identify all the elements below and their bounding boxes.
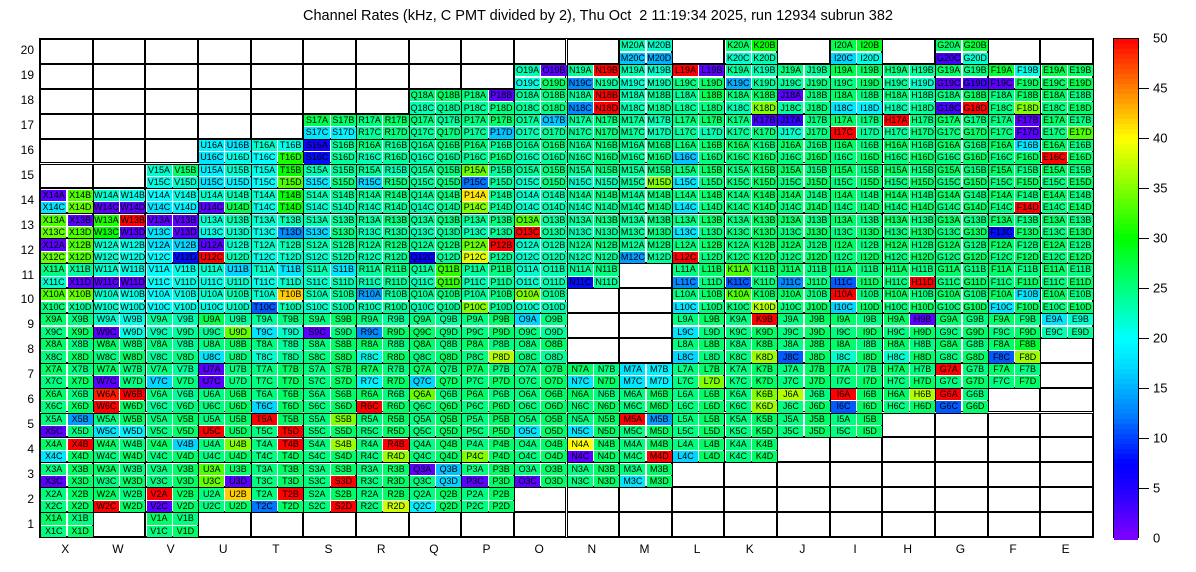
heatmap-channel-cell[interactable]: N13B [594, 215, 619, 226]
heatmap-channel-cell[interactable]: I6A [831, 389, 856, 400]
heatmap-channel-cell[interactable]: K11C [726, 277, 751, 288]
heatmap-channel-cell[interactable]: K4D [752, 451, 777, 462]
heatmap-channel-cell[interactable]: L19D [699, 78, 724, 89]
heatmap-channel-cell[interactable]: R6D [383, 401, 408, 412]
heatmap-channel-cell[interactable]: I18A [831, 90, 856, 101]
heatmap-channel-cell[interactable]: Q18B [436, 90, 461, 101]
heatmap-channel-cell[interactable]: J7D [805, 376, 830, 387]
heatmap-tower[interactable] [198, 114, 251, 139]
heatmap-channel-cell[interactable]: R2D [383, 501, 408, 512]
heatmap-channel-cell[interactable]: J11B [805, 264, 830, 275]
heatmap-channel-cell[interactable]: N7B [594, 364, 619, 375]
heatmap-channel-cell[interactable]: L19A [673, 65, 698, 76]
heatmap-channel-cell[interactable]: H12B [910, 239, 935, 250]
heatmap-channel-cell[interactable]: H8A [884, 339, 909, 350]
heatmap-channel-cell[interactable]: J9C [778, 327, 803, 338]
heatmap-channel-cell[interactable]: M19B [647, 65, 672, 76]
heatmap-channel-cell[interactable]: M4C [620, 451, 645, 462]
heatmap-channel-cell[interactable]: L9A [673, 314, 698, 325]
heatmap-channel-cell[interactable]: T3D [278, 476, 303, 487]
heatmap-channel-cell[interactable]: G8B [963, 339, 988, 350]
heatmap-channel-cell[interactable]: H13A [884, 215, 909, 226]
heatmap-channel-cell[interactable]: W7D [120, 376, 145, 387]
heatmap-channel-cell[interactable]: R14A [357, 190, 382, 201]
heatmap-channel-cell[interactable]: L15D [699, 177, 724, 188]
heatmap-channel-cell[interactable]: W9C [94, 327, 119, 338]
heatmap-channel-cell[interactable]: J19A [778, 65, 803, 76]
heatmap-tower[interactable] [777, 512, 830, 537]
heatmap-channel-cell[interactable]: K4A [726, 439, 751, 450]
heatmap-channel-cell[interactable]: E10B [1068, 289, 1093, 300]
heatmap-channel-cell[interactable]: P16A [462, 140, 487, 151]
heatmap-channel-cell[interactable]: I13A [831, 215, 856, 226]
heatmap-channel-cell[interactable]: L15A [673, 165, 698, 176]
heatmap-channel-cell[interactable]: N13C [568, 227, 593, 238]
heatmap-channel-cell[interactable]: P4B [489, 439, 514, 450]
heatmap-channel-cell[interactable]: Q4A [410, 439, 435, 450]
heatmap-channel-cell[interactable]: S2D [331, 501, 356, 512]
heatmap-channel-cell[interactable]: N12B [594, 239, 619, 250]
heatmap-tower[interactable] [1040, 462, 1093, 487]
heatmap-channel-cell[interactable]: M18C [620, 102, 645, 113]
heatmap-channel-cell[interactable]: X7C [41, 376, 66, 387]
heatmap-channel-cell[interactable]: I20B [857, 40, 882, 51]
heatmap-channel-cell[interactable]: Q15C [410, 177, 435, 188]
heatmap-channel-cell[interactable]: G7D [963, 376, 988, 387]
heatmap-channel-cell[interactable]: Q10A [410, 289, 435, 300]
heatmap-channel-cell[interactable]: V9B [173, 314, 198, 325]
heatmap-channel-cell[interactable]: K12B [752, 239, 777, 250]
heatmap-channel-cell[interactable]: T8D [278, 351, 303, 362]
heatmap-tower[interactable] [93, 89, 146, 114]
heatmap-channel-cell[interactable]: N19B [594, 65, 619, 76]
heatmap-channel-cell[interactable]: O19A [515, 65, 540, 76]
heatmap-channel-cell[interactable]: L16B [699, 140, 724, 151]
heatmap-channel-cell[interactable]: R9C [357, 327, 382, 338]
heatmap-channel-cell[interactable]: Q7D [436, 376, 461, 387]
heatmap-channel-cell[interactable]: M16B [647, 140, 672, 151]
heatmap-channel-cell[interactable]: R5B [383, 414, 408, 425]
heatmap-channel-cell[interactable]: T6A [252, 389, 277, 400]
heatmap-channel-cell[interactable]: O5D [541, 426, 566, 437]
heatmap-channel-cell[interactable]: X11D [68, 277, 93, 288]
heatmap-channel-cell[interactable]: S11B [331, 264, 356, 275]
heatmap-channel-cell[interactable]: N14B [594, 190, 619, 201]
heatmap-channel-cell[interactable]: N14C [568, 202, 593, 213]
heatmap-channel-cell[interactable]: N19C [568, 78, 593, 89]
heatmap-channel-cell[interactable]: V9C [147, 327, 172, 338]
heatmap-channel-cell[interactable]: T16B [278, 140, 303, 151]
heatmap-channel-cell[interactable]: W13A [94, 215, 119, 226]
heatmap-channel-cell[interactable]: X12B [68, 239, 93, 250]
heatmap-channel-cell[interactable]: X4D [68, 451, 93, 462]
heatmap-channel-cell[interactable]: R6B [383, 389, 408, 400]
heatmap-channel-cell[interactable]: K7A [726, 364, 751, 375]
heatmap-channel-cell[interactable]: V5D [173, 426, 198, 437]
heatmap-channel-cell[interactable]: R15A [357, 165, 382, 176]
heatmap-tower[interactable] [40, 39, 93, 64]
heatmap-channel-cell[interactable]: E12D [1068, 252, 1093, 263]
heatmap-channel-cell[interactable]: J15C [778, 177, 803, 188]
heatmap-channel-cell[interactable]: L5D [699, 426, 724, 437]
heatmap-tower[interactable] [198, 39, 251, 64]
heatmap-channel-cell[interactable]: R4A [357, 439, 382, 450]
heatmap-channel-cell[interactable]: G16D [963, 152, 988, 163]
heatmap-channel-cell[interactable]: P10D [489, 302, 514, 313]
heatmap-tower[interactable] [619, 288, 672, 313]
heatmap-channel-cell[interactable]: S11C [304, 277, 329, 288]
heatmap-channel-cell[interactable]: J8C [778, 351, 803, 362]
heatmap-channel-cell[interactable]: F10C [989, 302, 1014, 313]
heatmap-channel-cell[interactable]: U9C [199, 327, 224, 338]
heatmap-channel-cell[interactable]: S8A [304, 339, 329, 350]
heatmap-channel-cell[interactable]: K12D [752, 252, 777, 263]
heatmap-tower[interactable] [567, 288, 620, 313]
heatmap-channel-cell[interactable]: V1A [147, 513, 172, 524]
heatmap-tower[interactable] [777, 487, 830, 512]
heatmap-channel-cell[interactable]: X2A [41, 488, 66, 499]
heatmap-channel-cell[interactable]: L11B [699, 264, 724, 275]
heatmap-channel-cell[interactable]: H8D [910, 351, 935, 362]
heatmap-tower[interactable] [1040, 39, 1093, 64]
heatmap-channel-cell[interactable]: G15A [936, 165, 961, 176]
heatmap-tower[interactable] [882, 487, 935, 512]
heatmap-channel-cell[interactable]: U13C [199, 227, 224, 238]
heatmap-tower[interactable] [619, 487, 672, 512]
heatmap-channel-cell[interactable]: E11D [1068, 277, 1093, 288]
heatmap-channel-cell[interactable]: Q18C [410, 102, 435, 113]
heatmap-tower[interactable] [672, 462, 725, 487]
heatmap-channel-cell[interactable]: M14C [620, 202, 645, 213]
heatmap-channel-cell[interactable]: V11B [173, 264, 198, 275]
heatmap-channel-cell[interactable]: X3C [41, 476, 66, 487]
heatmap-channel-cell[interactable]: O19C [515, 78, 540, 89]
heatmap-channel-cell[interactable]: H14D [910, 202, 935, 213]
heatmap-channel-cell[interactable]: S3D [331, 476, 356, 487]
heatmap-channel-cell[interactable]: M4A [620, 439, 645, 450]
heatmap-channel-cell[interactable]: H7A [884, 364, 909, 375]
heatmap-channel-cell[interactable]: O13B [541, 215, 566, 226]
heatmap-channel-cell[interactable]: N15D [594, 177, 619, 188]
heatmap-channel-cell[interactable]: O12D [541, 252, 566, 263]
heatmap-channel-cell[interactable]: O19B [541, 65, 566, 76]
heatmap-channel-cell[interactable]: G20A [936, 40, 961, 51]
heatmap-channel-cell[interactable]: I9B [857, 314, 882, 325]
heatmap-channel-cell[interactable]: N5D [594, 426, 619, 437]
heatmap-channel-cell[interactable]: N7C [568, 376, 593, 387]
heatmap-channel-cell[interactable]: V4B [173, 439, 198, 450]
heatmap-channel-cell[interactable]: F7C [989, 376, 1014, 387]
heatmap-channel-cell[interactable]: L17B [699, 115, 724, 126]
heatmap-channel-cell[interactable]: J6D [805, 401, 830, 412]
heatmap-channel-cell[interactable]: L12B [699, 239, 724, 250]
heatmap-channel-cell[interactable]: U12C [199, 252, 224, 263]
heatmap-channel-cell[interactable]: K20B [752, 40, 777, 51]
heatmap-channel-cell[interactable]: N13D [594, 227, 619, 238]
heatmap-channel-cell[interactable]: G15C [936, 177, 961, 188]
heatmap-channel-cell[interactable]: R13C [357, 227, 382, 238]
heatmap-channel-cell[interactable]: L8B [699, 339, 724, 350]
heatmap-channel-cell[interactable]: F15D [1015, 177, 1040, 188]
heatmap-channel-cell[interactable]: V6B [173, 389, 198, 400]
heatmap-channel-cell[interactable]: G14B [963, 190, 988, 201]
heatmap-channel-cell[interactable]: F14D [1015, 202, 1040, 213]
heatmap-tower[interactable] [567, 313, 620, 338]
heatmap-channel-cell[interactable]: I16B [857, 140, 882, 151]
heatmap-channel-cell[interactable]: U8A [199, 339, 224, 350]
heatmap-tower[interactable] [935, 512, 988, 537]
heatmap-tower[interactable] [40, 139, 93, 164]
heatmap-channel-cell[interactable]: R17D [383, 127, 408, 138]
heatmap-channel-cell[interactable]: Q13D [436, 227, 461, 238]
heatmap-channel-cell[interactable]: O7C [515, 376, 540, 387]
heatmap-channel-cell[interactable]: F7A [989, 364, 1014, 375]
heatmap-channel-cell[interactable]: F17B [1015, 115, 1040, 126]
heatmap-channel-cell[interactable]: N15B [594, 165, 619, 176]
heatmap-channel-cell[interactable]: J6B [805, 389, 830, 400]
heatmap-channel-cell[interactable]: N19A [568, 65, 593, 76]
heatmap-channel-cell[interactable]: L9D [699, 327, 724, 338]
heatmap-channel-cell[interactable]: L17C [673, 127, 698, 138]
heatmap-channel-cell[interactable]: O10B [541, 289, 566, 300]
heatmap-channel-cell[interactable]: V11D [173, 277, 198, 288]
heatmap-tower[interactable] [1040, 437, 1093, 462]
heatmap-channel-cell[interactable]: Q2A [410, 488, 435, 499]
heatmap-channel-cell[interactable]: S16A [304, 140, 329, 151]
heatmap-channel-cell[interactable]: T7A [252, 364, 277, 375]
heatmap-tower[interactable] [830, 437, 883, 462]
heatmap-channel-cell[interactable]: H14B [910, 190, 935, 201]
heatmap-channel-cell[interactable]: U11C [199, 277, 224, 288]
heatmap-channel-cell[interactable]: O16A [515, 140, 540, 151]
heatmap-channel-cell[interactable]: I18C [831, 102, 856, 113]
heatmap-channel-cell[interactable]: O4A [515, 439, 540, 450]
heatmap-channel-cell[interactable]: L9B [699, 314, 724, 325]
heatmap-tower[interactable] [198, 512, 251, 537]
heatmap-channel-cell[interactable]: R17C [357, 127, 382, 138]
heatmap-channel-cell[interactable]: O17C [515, 127, 540, 138]
heatmap-channel-cell[interactable]: P10C [462, 302, 487, 313]
heatmap-channel-cell[interactable]: X8B [68, 339, 93, 350]
heatmap-channel-cell[interactable]: N16C [568, 152, 593, 163]
heatmap-channel-cell[interactable]: E9A [1042, 314, 1067, 325]
heatmap-channel-cell[interactable]: X10A [41, 289, 66, 300]
heatmap-channel-cell[interactable]: Q14A [410, 190, 435, 201]
heatmap-channel-cell[interactable]: T5B [278, 414, 303, 425]
heatmap-channel-cell[interactable]: K14A [726, 190, 751, 201]
heatmap-channel-cell[interactable]: G11B [963, 264, 988, 275]
heatmap-channel-cell[interactable]: K17C [726, 127, 751, 138]
heatmap-channel-cell[interactable]: G14A [936, 190, 961, 201]
heatmap-channel-cell[interactable]: V5A [147, 414, 172, 425]
heatmap-channel-cell[interactable]: K11A [726, 264, 751, 275]
heatmap-channel-cell[interactable]: I12D [857, 252, 882, 263]
heatmap-channel-cell[interactable]: R10A [357, 289, 382, 300]
heatmap-channel-cell[interactable]: N11C [568, 277, 593, 288]
heatmap-channel-cell[interactable]: K7D [752, 376, 777, 387]
heatmap-channel-cell[interactable]: I11C [831, 277, 856, 288]
heatmap-channel-cell[interactable]: U4B [225, 439, 250, 450]
heatmap-channel-cell[interactable]: P4C [462, 451, 487, 462]
heatmap-channel-cell[interactable]: E16C [1042, 152, 1067, 163]
heatmap-channel-cell[interactable]: M15D [647, 177, 672, 188]
heatmap-tower[interactable] [882, 462, 935, 487]
heatmap-channel-cell[interactable]: M12D [647, 252, 672, 263]
heatmap-channel-cell[interactable]: X8C [41, 351, 66, 362]
heatmap-channel-cell[interactable]: P9B [489, 314, 514, 325]
heatmap-channel-cell[interactable]: U14A [199, 190, 224, 201]
heatmap-channel-cell[interactable]: M5D [647, 426, 672, 437]
heatmap-channel-cell[interactable]: X4C [41, 451, 66, 462]
heatmap-channel-cell[interactable]: Q8A [410, 339, 435, 350]
heatmap-channel-cell[interactable]: J15D [805, 177, 830, 188]
heatmap-channel-cell[interactable]: S4D [331, 451, 356, 462]
heatmap-channel-cell[interactable]: U11B [225, 264, 250, 275]
heatmap-channel-cell[interactable]: P18C [462, 102, 487, 113]
heatmap-channel-cell[interactable]: W4B [120, 439, 145, 450]
heatmap-channel-cell[interactable]: Q17B [436, 115, 461, 126]
heatmap-channel-cell[interactable]: S15A [304, 165, 329, 176]
heatmap-channel-cell[interactable]: T13A [252, 215, 277, 226]
heatmap-channel-cell[interactable]: M19D [647, 78, 672, 89]
heatmap-channel-cell[interactable]: X12D [68, 252, 93, 263]
heatmap-channel-cell[interactable]: T12C [252, 252, 277, 263]
heatmap-channel-cell[interactable]: J14D [805, 202, 830, 213]
heatmap-channel-cell[interactable]: H16D [910, 152, 935, 163]
heatmap-channel-cell[interactable]: Q13C [410, 227, 435, 238]
heatmap-channel-cell[interactable]: J9A [778, 314, 803, 325]
heatmap-channel-cell[interactable]: O8B [541, 339, 566, 350]
heatmap-channel-cell[interactable]: S14A [304, 190, 329, 201]
heatmap-channel-cell[interactable]: J16D [805, 152, 830, 163]
heatmap-channel-cell[interactable]: R11D [383, 277, 408, 288]
heatmap-channel-cell[interactable]: X13D [68, 227, 93, 238]
heatmap-channel-cell[interactable]: X5A [41, 414, 66, 425]
heatmap-channel-cell[interactable]: S12A [304, 239, 329, 250]
heatmap-channel-cell[interactable]: K9B [752, 314, 777, 325]
heatmap-channel-cell[interactable]: J15B [805, 165, 830, 176]
heatmap-channel-cell[interactable]: O18A [515, 90, 540, 101]
heatmap-channel-cell[interactable]: O19D [541, 78, 566, 89]
heatmap-channel-cell[interactable]: K13B [752, 215, 777, 226]
heatmap-channel-cell[interactable]: V4A [147, 439, 172, 450]
heatmap-channel-cell[interactable]: I16C [831, 152, 856, 163]
heatmap-channel-cell[interactable]: M17B [647, 115, 672, 126]
heatmap-channel-cell[interactable]: O12B [541, 239, 566, 250]
heatmap-channel-cell[interactable]: P14D [489, 202, 514, 213]
heatmap-channel-cell[interactable]: T11A [252, 264, 277, 275]
heatmap-channel-cell[interactable]: E14D [1068, 202, 1093, 213]
heatmap-channel-cell[interactable]: E17A [1042, 115, 1067, 126]
heatmap-channel-cell[interactable]: U6D [225, 401, 250, 412]
heatmap-channel-cell[interactable]: J15A [778, 165, 803, 176]
heatmap-channel-cell[interactable]: E13B [1068, 215, 1093, 226]
heatmap-channel-cell[interactable]: M15B [647, 165, 672, 176]
heatmap-channel-cell[interactable]: R12B [383, 239, 408, 250]
heatmap-channel-cell[interactable]: J13C [778, 227, 803, 238]
heatmap-channel-cell[interactable]: T10B [278, 289, 303, 300]
heatmap-channel-cell[interactable]: M3D [647, 476, 672, 487]
heatmap-channel-cell[interactable]: P12A [462, 239, 487, 250]
heatmap-channel-cell[interactable]: F8B [1015, 339, 1040, 350]
heatmap-channel-cell[interactable]: V7A [147, 364, 172, 375]
heatmap-channel-cell[interactable]: F9B [1015, 314, 1040, 325]
heatmap-channel-cell[interactable]: Q11B [436, 264, 461, 275]
heatmap-channel-cell[interactable]: L6B [699, 389, 724, 400]
heatmap-channel-cell[interactable]: Q7B [436, 364, 461, 375]
heatmap-channel-cell[interactable]: T12A [252, 239, 277, 250]
heatmap-channel-cell[interactable]: U12B [225, 239, 250, 250]
heatmap-channel-cell[interactable]: G8A [936, 339, 961, 350]
heatmap-channel-cell[interactable]: Q15A [410, 165, 435, 176]
heatmap-channel-cell[interactable]: H7B [910, 364, 935, 375]
heatmap-channel-cell[interactable]: H16B [910, 140, 935, 151]
heatmap-channel-cell[interactable]: L17A [673, 115, 698, 126]
heatmap-channel-cell[interactable]: M14D [647, 202, 672, 213]
heatmap-channel-cell[interactable]: S17A [304, 115, 329, 126]
heatmap-channel-cell[interactable]: V3B [173, 464, 198, 475]
heatmap-channel-cell[interactable]: J16A [778, 140, 803, 151]
heatmap-channel-cell[interactable]: W2D [120, 501, 145, 512]
heatmap-channel-cell[interactable]: F18D [1015, 102, 1040, 113]
heatmap-channel-cell[interactable]: J8A [778, 339, 803, 350]
heatmap-channel-cell[interactable]: H18A [884, 90, 909, 101]
heatmap-channel-cell[interactable]: V8C [147, 351, 172, 362]
heatmap-channel-cell[interactable]: T15B [278, 165, 303, 176]
heatmap-channel-cell[interactable]: X6B [68, 389, 93, 400]
heatmap-channel-cell[interactable]: I18B [857, 90, 882, 101]
heatmap-channel-cell[interactable]: T15D [278, 177, 303, 188]
heatmap-tower[interactable] [93, 512, 146, 537]
heatmap-channel-cell[interactable]: G18A [936, 90, 961, 101]
heatmap-channel-cell[interactable]: W14C [94, 202, 119, 213]
heatmap-channel-cell[interactable]: Q16A [410, 140, 435, 151]
heatmap-tower[interactable] [461, 39, 514, 64]
heatmap-channel-cell[interactable]: O9C [515, 327, 540, 338]
heatmap-channel-cell[interactable]: N19D [594, 78, 619, 89]
heatmap-channel-cell[interactable]: M18A [620, 90, 645, 101]
heatmap-channel-cell[interactable]: S2A [304, 488, 329, 499]
heatmap-channel-cell[interactable]: I7A [831, 364, 856, 375]
heatmap-channel-cell[interactable]: Q13A [410, 215, 435, 226]
heatmap-channel-cell[interactable]: T9A [252, 314, 277, 325]
heatmap-channel-cell[interactable]: W4A [94, 439, 119, 450]
heatmap-channel-cell[interactable]: F12A [989, 239, 1014, 250]
heatmap-tower[interactable] [988, 512, 1041, 537]
heatmap-channel-cell[interactable]: H13D [910, 227, 935, 238]
heatmap-channel-cell[interactable]: P15D [489, 177, 514, 188]
heatmap-channel-cell[interactable]: R4C [357, 451, 382, 462]
heatmap-channel-cell[interactable]: M16D [647, 152, 672, 163]
heatmap-channel-cell[interactable]: I5C [831, 426, 856, 437]
heatmap-channel-cell[interactable]: I8D [857, 351, 882, 362]
heatmap-channel-cell[interactable]: E10A [1042, 289, 1067, 300]
heatmap-channel-cell[interactable]: P14C [462, 202, 487, 213]
heatmap-channel-cell[interactable]: E9C [1042, 327, 1067, 338]
heatmap-channel-cell[interactable]: G7A [936, 364, 961, 375]
heatmap-tower[interactable] [619, 313, 672, 338]
heatmap-channel-cell[interactable]: S12C [304, 252, 329, 263]
heatmap-channel-cell[interactable]: O13D [541, 227, 566, 238]
heatmap-channel-cell[interactable]: T13D [278, 227, 303, 238]
heatmap-channel-cell[interactable]: I15B [857, 165, 882, 176]
heatmap-channel-cell[interactable]: G8D [963, 351, 988, 362]
heatmap-channel-cell[interactable]: J10A [778, 289, 803, 300]
heatmap-channel-cell[interactable]: X1D [68, 526, 93, 537]
heatmap-tower[interactable] [514, 512, 567, 537]
heatmap-channel-cell[interactable]: Q16C [410, 152, 435, 163]
heatmap-channel-cell[interactable]: Q2C [410, 501, 435, 512]
